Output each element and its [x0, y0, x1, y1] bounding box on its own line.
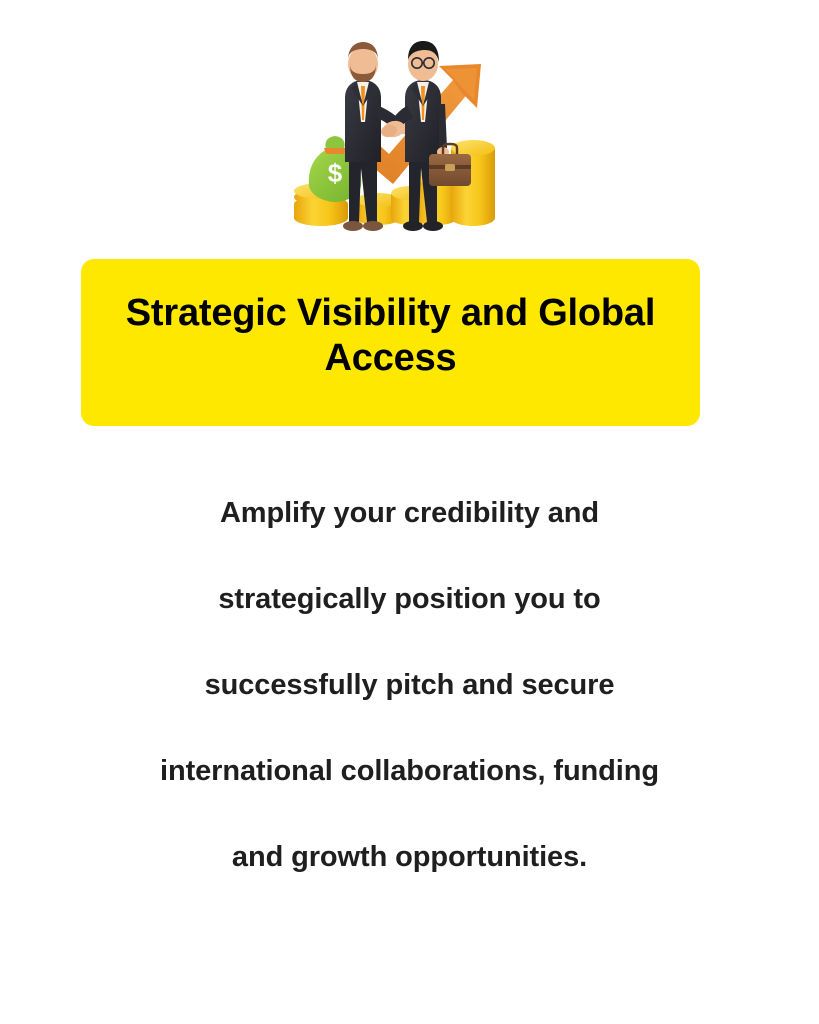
business-handshake-growth-illustration: $ — [293, 36, 498, 241]
body-copy: Amplify your credibility and strategical… — [50, 470, 769, 900]
title-banner: Strategic Visibility and Global Access — [81, 259, 700, 426]
body-line: Amplify your credibility and — [220, 470, 599, 556]
body-line: strategically position you to — [218, 556, 600, 642]
body-line: and growth opportunities. — [232, 814, 587, 900]
svg-text:$: $ — [328, 158, 343, 188]
body-line: international collaborations, funding — [160, 728, 659, 814]
slide-page: $ — [0, 0, 819, 1024]
body-line: successfully pitch and secure — [205, 642, 615, 728]
page-title: Strategic Visibility and Global Access — [107, 291, 674, 381]
